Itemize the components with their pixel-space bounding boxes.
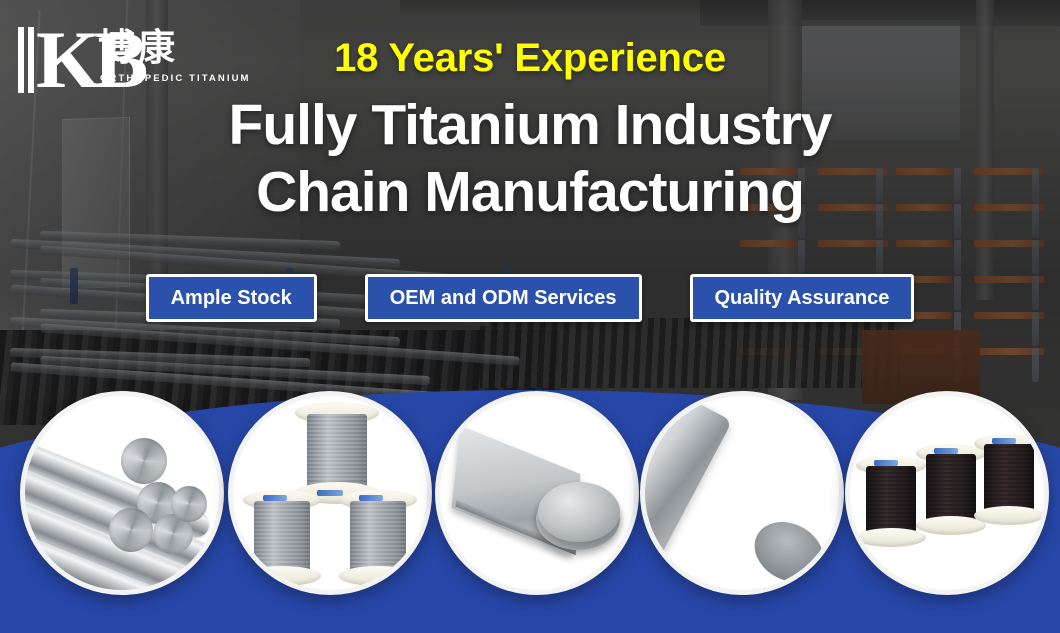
titanium-wire-spools-image xyxy=(233,396,427,590)
headline-line-1: Fully Titanium Industry xyxy=(229,93,832,157)
product-circle-dark-wire-spools[interactable] xyxy=(845,391,1049,595)
product-circle-titanium-wire-spools[interactable] xyxy=(228,391,432,595)
promotional-banner: KB 博康 ORTHOPEDIC TITANIUM 18 Years' Expe… xyxy=(0,0,1060,633)
product-circle-titanium-plates-discs[interactable] xyxy=(435,391,639,595)
kb-monogram-icon: KB xyxy=(16,24,90,96)
feature-pill-row: Ample Stock OEM and ODM Services Quality… xyxy=(0,274,1060,322)
company-logo[interactable]: KB 博康 ORTHOPEDIC TITANIUM xyxy=(16,24,251,96)
titanium-ingot-image xyxy=(645,396,839,590)
titanium-plates-and-discs-image xyxy=(440,396,634,590)
headline-line-2: Chain Manufacturing xyxy=(0,159,1060,226)
product-circle-titanium-round-bars[interactable] xyxy=(20,391,224,595)
page-title: Fully Titanium Industry Chain Manufactur… xyxy=(0,92,1060,226)
feature-pill-ample-stock[interactable]: Ample Stock xyxy=(146,274,317,322)
product-circle-row xyxy=(0,373,1060,633)
feature-pill-oem-odm-services[interactable]: OEM and ODM Services xyxy=(365,274,642,322)
dark-wire-spools-image xyxy=(850,396,1044,590)
feature-pill-quality-assurance[interactable]: Quality Assurance xyxy=(690,274,915,322)
logo-monogram-text: KB xyxy=(36,20,142,100)
titanium-round-bars-image xyxy=(25,396,219,590)
product-circle-titanium-ingot[interactable] xyxy=(640,391,844,595)
